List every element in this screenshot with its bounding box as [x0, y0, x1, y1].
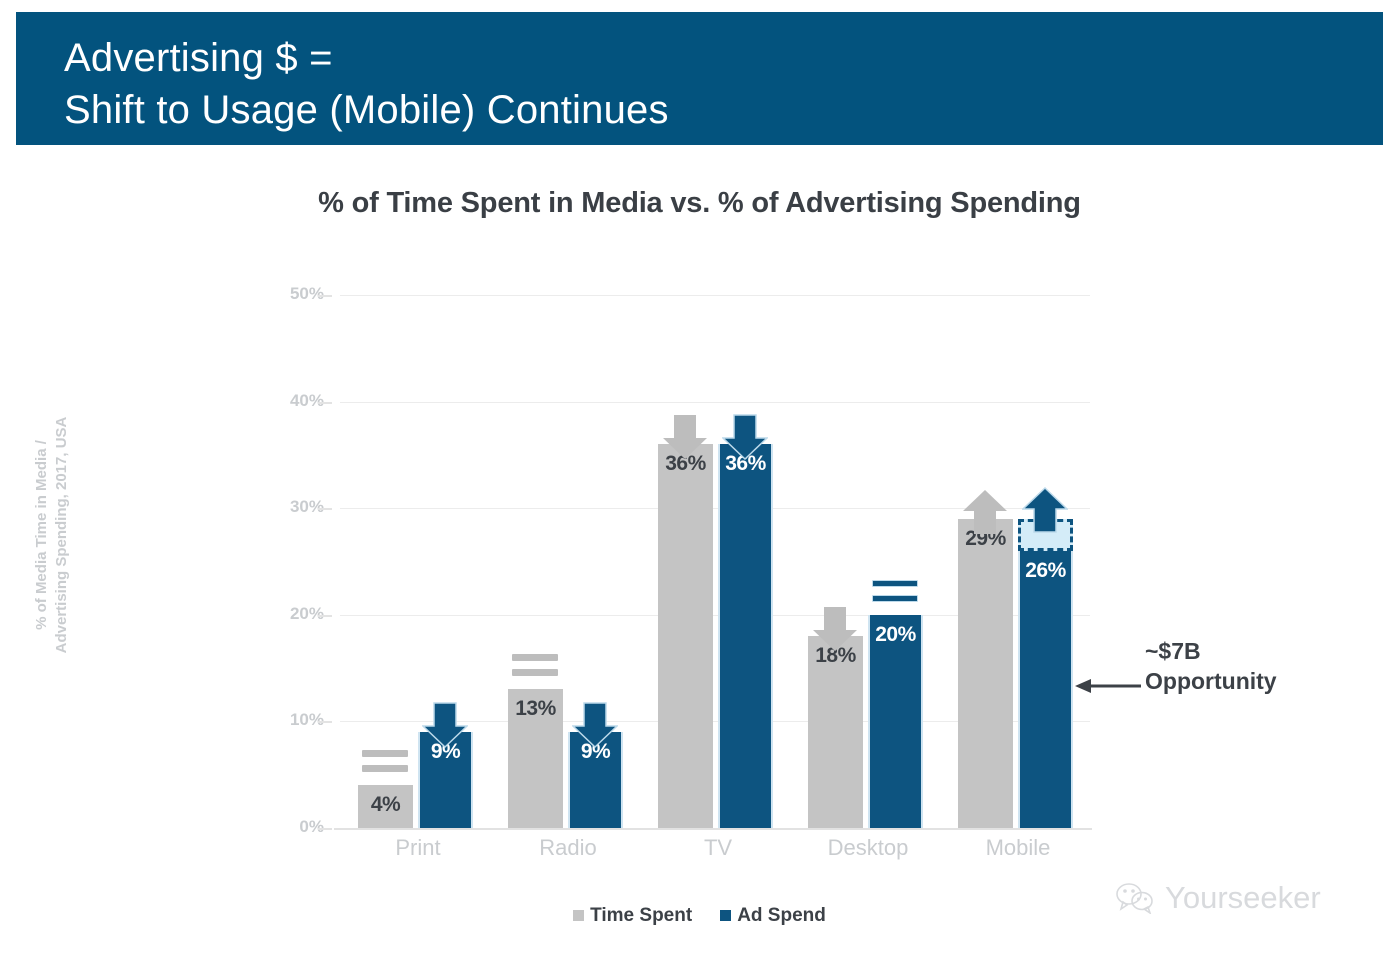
arrow-down-icon [422, 702, 468, 748]
bar-tv-time-spent[interactable]: 36% [658, 444, 713, 828]
left-arrow-icon [1075, 678, 1141, 694]
legend-label: Ad Spend [737, 905, 826, 926]
plot-area: 4%9%13%9%36%36%18%20%29%26% [340, 295, 1090, 828]
arrow-glyph [662, 414, 708, 460]
x-axis-label-radio: Radio [488, 835, 648, 861]
bar-group-print: 4%9% [358, 295, 478, 828]
chart-title: % of Time Spent in Media vs. % of Advert… [0, 187, 1399, 220]
legend-item-time-spent[interactable]: Time Spent [573, 905, 692, 927]
opportunity-amount: ~$7B [1145, 636, 1385, 666]
equals-indicator-icon [872, 580, 918, 607]
y-axis-tick-label: 40% [252, 391, 324, 411]
equals-indicator-icon [362, 750, 408, 777]
legend-swatch [720, 910, 731, 921]
bar-desktop-ad-spend[interactable]: 20% [868, 615, 923, 828]
bar-mobile-time-spent[interactable]: 29% [958, 519, 1013, 828]
legend-item-ad-spend[interactable]: Ad Spend [720, 905, 826, 927]
bar-value-label: 4% [358, 793, 413, 817]
arrow-glyph [722, 414, 768, 460]
bar-print-time-spent[interactable]: 4% [358, 785, 413, 828]
x-axis-label-print: Print [338, 835, 498, 861]
y-axis-tick-mark [318, 828, 332, 830]
y-axis-tick-mark [318, 721, 332, 723]
arrow-glyph [962, 489, 1008, 535]
header-banner: Advertising $ = Shift to Usage (Mobile) … [16, 12, 1383, 145]
equals-bar [872, 595, 918, 602]
x-axis-label-desktop: Desktop [788, 835, 948, 861]
arrow-glyph [572, 702, 618, 748]
equals-bar [872, 580, 918, 587]
bar-desktop-time-spent[interactable]: 18% [808, 636, 863, 828]
x-axis-label-tv: TV [638, 835, 798, 861]
arrow-glyph [1022, 487, 1068, 533]
bar-value-label: 13% [508, 697, 563, 721]
page-title: Advertising $ = Shift to Usage (Mobile) … [64, 32, 669, 136]
equals-indicator-icon [512, 654, 558, 681]
legend-label: Time Spent [590, 905, 692, 926]
arrow-down-icon [722, 414, 768, 460]
y-axis-tick-label: 10% [252, 710, 324, 730]
bar-value-label: 26% [1020, 559, 1071, 583]
axis-baseline [334, 828, 1092, 830]
y-axis-tick-mark [318, 615, 332, 617]
opportunity-label: Opportunity [1145, 666, 1385, 696]
bar-value-label: 20% [870, 623, 921, 647]
equals-bar [362, 750, 408, 757]
bar-tv-ad-spend[interactable]: 36% [718, 444, 773, 828]
y-axis-tick-label: 30% [252, 497, 324, 517]
arrow-up-icon [1022, 487, 1068, 533]
arrow-up-icon [962, 489, 1008, 535]
equals-bar [512, 669, 558, 676]
arrow-glyph [812, 606, 858, 652]
equals-bar [362, 765, 408, 772]
bar-mobile-ad-spend[interactable]: 26% [1018, 551, 1073, 828]
arrow-down-icon [662, 414, 708, 460]
y-axis-tick-label: 0% [252, 817, 324, 837]
arrow-glyph [422, 702, 468, 748]
wechat-icon [1115, 882, 1155, 914]
y-axis-tick-mark [318, 402, 332, 404]
y-axis-title: % of Media Time in Media / Advertising S… [32, 355, 72, 715]
bar-group-mobile: 29%26% [958, 295, 1078, 828]
chart-container: % of Time Spent in Media vs. % of Advert… [0, 145, 1399, 960]
opportunity-annotation: ~$7B Opportunity [1145, 636, 1385, 696]
y-axis-tick-label: 20% [252, 604, 324, 624]
watermark-label: Yourseeker [1165, 880, 1321, 916]
equals-bar [512, 654, 558, 661]
arrow-down-icon [812, 606, 858, 652]
legend-swatch [573, 910, 584, 921]
y-axis-tick-mark [318, 295, 332, 297]
watermark: Yourseeker [1115, 880, 1321, 916]
bar-group-tv: 36%36% [658, 295, 778, 828]
arrow-down-icon [572, 702, 618, 748]
y-axis-tick-mark [318, 508, 332, 510]
y-axis-tick-label: 50% [252, 284, 324, 304]
x-axis-label-mobile: Mobile [938, 835, 1098, 861]
bar-radio-time-spent[interactable]: 13% [508, 689, 563, 828]
bar-group-radio: 13%9% [508, 295, 628, 828]
bar-group-desktop: 18%20% [808, 295, 928, 828]
